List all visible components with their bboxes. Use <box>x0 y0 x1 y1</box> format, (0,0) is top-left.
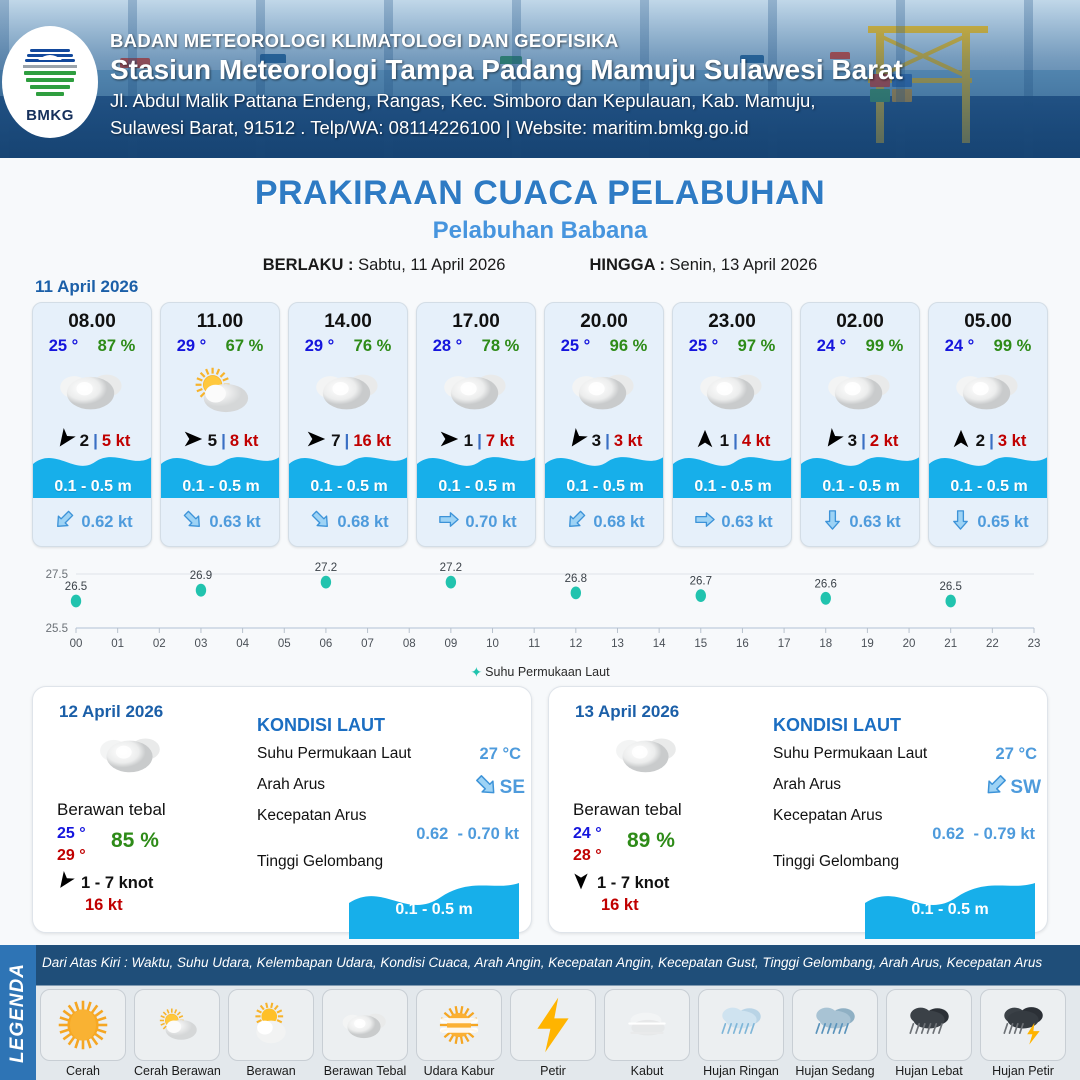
address-line-1: Jl. Abdul Malik Pattana Endeng, Rangas, … <box>110 89 903 113</box>
current-direction-icon <box>473 772 499 803</box>
legend-item: Kabut <box>604 989 690 1078</box>
daily-summary-row: 12 April 2026 Berawan tebal 25 ° 29 ° 85… <box>32 686 1048 933</box>
sst-label: Suhu Permukaan Laut <box>257 745 411 762</box>
svg-text:22: 22 <box>986 638 999 650</box>
sst-chart-plot: 27.525.500010203040506070809101112131415… <box>24 556 1056 661</box>
cloud-sun-small-icon <box>228 989 314 1061</box>
header-text-block: BADAN METEOROLOGI KLIMATOLOGI DAN GEOFIS… <box>110 30 903 139</box>
sst-label: Suhu Permukaan Laut <box>773 745 927 762</box>
wave-height-row: Tinggi Gelombang <box>257 853 525 875</box>
card-temp-humidity: 25 ° 97 % <box>673 337 791 356</box>
legend-item: Hujan Lebat <box>886 989 972 1078</box>
svg-text:27.2: 27.2 <box>440 562 462 574</box>
cloudy-icon <box>929 360 1047 422</box>
valid-to: HINGGA : Senin, 13 April 2026 <box>589 256 817 275</box>
wave-height: 0.1 - 0.5 m <box>673 478 792 496</box>
current-direction-icon <box>53 508 76 536</box>
card-humidity: 97 % <box>738 337 776 356</box>
summary-temp-max: 28 ° <box>573 845 602 867</box>
current-direction-text: SE <box>500 777 525 799</box>
bmkg-logo: BMKG <box>2 26 98 138</box>
valid-from-label: BERLAKU : <box>263 256 354 274</box>
legend-note: Dari Atas Kiri : Waktu, Suhu Udara, Kele… <box>42 955 1042 970</box>
bmkg-logo-icon <box>18 40 82 106</box>
legend-item-label: Cerah <box>40 1064 126 1078</box>
sst-value: 27 °C <box>480 745 521 764</box>
svg-text:17: 17 <box>778 638 791 650</box>
card-humidity: 99 % <box>994 337 1032 356</box>
cloudy-icon <box>545 360 663 422</box>
card-humidity: 87 % <box>98 337 136 356</box>
summary-condition: Berawan tebal <box>57 800 166 820</box>
svg-text:18: 18 <box>819 638 832 650</box>
current-direction-icon <box>949 508 972 536</box>
agency-name: BADAN METEOROLOGI KLIMATOLOGI DAN GEOFIS… <box>110 30 903 52</box>
current-speed-label: Kecepatan Arus <box>773 807 882 824</box>
summary-temperatures: 25 ° 29 ° <box>57 823 86 866</box>
current-direction-icon <box>983 772 1009 803</box>
valid-to-label: HINGGA : <box>589 256 664 274</box>
forecast-card: 20.00 25 ° 96 % 3 | 3 kt 0.1 - 0.5 m <box>544 302 664 547</box>
wave-height: 0.1 - 0.5 m <box>417 478 536 496</box>
hourly-forecast-row: 08.00 25 ° 87 % 2 | 5 kt 0.1 - 0.5 m <box>32 302 1048 547</box>
card-time: 20.00 <box>545 311 663 333</box>
cloudy-icon <box>95 732 167 782</box>
svg-text:04: 04 <box>236 638 249 650</box>
legend-item-label: Hujan Petir <box>980 1064 1066 1078</box>
card-humidity: 96 % <box>610 337 648 356</box>
current-direction-row: Arah Arus SW <box>773 776 1041 798</box>
page-header: BMKG BADAN METEOROLOGI KLIMATOLOGI DAN G… <box>0 0 1080 158</box>
current-direction-label: Arah Arus <box>773 776 841 793</box>
legend-item: Petir <box>510 989 596 1078</box>
cloudy-icon <box>673 360 791 422</box>
cloudy-icon <box>33 360 151 422</box>
forecast-card: 23.00 25 ° 97 % 1 | 4 kt 0.1 - 0.5 m <box>672 302 792 547</box>
card-temperature: 29 ° <box>305 337 335 356</box>
summary-temp-min: 24 ° <box>573 823 602 845</box>
card-time: 02.00 <box>801 311 919 333</box>
legend-item: Berawan Tebal <box>322 989 408 1078</box>
card-current: 0.68 kt <box>545 508 664 536</box>
daily-summary-card: 13 April 2026 Berawan tebal 24 ° 28 ° 89… <box>548 686 1048 933</box>
summary-humidity: 89 % <box>627 829 675 853</box>
haze-icon <box>416 989 502 1061</box>
sst-chart: 27.525.500010203040506070809101112131415… <box>24 556 1056 681</box>
svg-text:03: 03 <box>195 638 208 650</box>
sea-conditions-title: KONDISI LAUT <box>773 715 1041 736</box>
current-speed: 0.65 kt <box>977 513 1028 532</box>
svg-text:27.5: 27.5 <box>46 569 68 581</box>
forecast-card: 08.00 25 ° 87 % 2 | 5 kt 0.1 - 0.5 m <box>32 302 152 547</box>
current-speed-value: 0.62 - 0.79 kt <box>773 825 1041 844</box>
forecast-card: 17.00 28 ° 78 % 1 | 7 kt 0.1 - 0.5 m <box>416 302 536 547</box>
legend-item-label: Berawan Tebal <box>322 1064 408 1078</box>
current-speed-value: 0.62 - 0.70 kt <box>257 825 525 844</box>
summary-date: 12 April 2026 <box>59 702 163 722</box>
forecast-card: 05.00 24 ° 99 % 2 | 3 kt 0.1 - 0.5 m <box>928 302 1048 547</box>
legend-item-label: Cerah Berawan <box>134 1064 220 1078</box>
title-section: PRAKIRAAN CUACA PELABUHAN Pelabuhan Baba… <box>0 158 1080 275</box>
card-time: 11.00 <box>161 311 279 333</box>
current-speed-label: Kecepatan Arus <box>257 807 366 824</box>
legend-section: Dari Atas Kiri : Waktu, Suhu Udara, Kele… <box>0 945 1080 1080</box>
wave-height-label: Tinggi Gelombang <box>257 853 383 870</box>
summary-temp-max: 29 ° <box>57 845 86 867</box>
wave-height: 0.1 - 0.5 m <box>801 478 920 496</box>
svg-text:06: 06 <box>320 638 333 650</box>
svg-text:26.6: 26.6 <box>815 578 837 590</box>
card-temp-humidity: 25 ° 87 % <box>33 337 151 356</box>
svg-text:16: 16 <box>736 638 749 650</box>
chart-legend: ✦Suhu Permukaan Laut <box>24 664 1056 681</box>
wave-height: 0.1 - 0.5 m <box>289 478 408 496</box>
legend-item-label: Kabut <box>604 1064 690 1078</box>
card-temp-humidity: 29 ° 76 % <box>289 337 407 356</box>
svg-text:21: 21 <box>944 638 957 650</box>
moderate-rain-icon <box>792 989 878 1061</box>
card-temp-humidity: 24 ° 99 % <box>929 337 1047 356</box>
svg-text:26.9: 26.9 <box>190 570 212 582</box>
cloudy-icon <box>322 989 408 1061</box>
current-speed: 0.70 kt <box>465 513 516 532</box>
current-speed-max: - 0.79 kt <box>974 825 1035 843</box>
current-direction-icon <box>821 508 844 536</box>
svg-text:05: 05 <box>278 638 291 650</box>
card-temperature: 25 ° <box>689 337 719 356</box>
wave-height-label: Tinggi Gelombang <box>773 853 899 870</box>
legend-item: Berawan <box>228 989 314 1078</box>
svg-text:13: 13 <box>611 638 624 650</box>
sea-conditions: KONDISI LAUT Suhu Permukaan Laut 27 °C A… <box>257 715 525 875</box>
card-current: 0.68 kt <box>289 508 408 536</box>
svg-text:02: 02 <box>153 638 166 650</box>
card-current: 0.65 kt <box>929 508 1048 536</box>
card-temperature: 29 ° <box>177 337 207 356</box>
current-speed-min: 0.62 <box>932 825 964 843</box>
summary-wind: 1 - 7 knot <box>571 871 669 896</box>
svg-text:25.5: 25.5 <box>46 623 68 635</box>
legend-item: Hujan Petir <box>980 989 1066 1078</box>
card-humidity: 67 % <box>226 337 264 356</box>
current-direction-icon <box>565 508 588 536</box>
current-direction-label: Arah Arus <box>257 776 325 793</box>
summary-humidity: 85 % <box>111 829 159 853</box>
svg-text:09: 09 <box>444 638 457 650</box>
card-current: 0.62 kt <box>33 508 152 536</box>
current-direction-value: SW <box>983 772 1041 803</box>
card-time: 17.00 <box>417 311 535 333</box>
card-temp-humidity: 25 ° 96 % <box>545 337 663 356</box>
current-speed: 0.68 kt <box>337 513 388 532</box>
station-name: Stasiun Meteorologi Tampa Padang Mamuju … <box>110 54 903 86</box>
current-speed-row: Kecepatan Arus <box>773 807 1041 823</box>
wave-height-row: Tinggi Gelombang <box>773 853 1041 875</box>
valid-from: BERLAKU : Sabtu, 11 April 2026 <box>263 256 506 275</box>
port-name: Pelabuhan Babana <box>0 217 1080 245</box>
summary-gust: 16 kt <box>601 896 639 915</box>
legend-item: Cerah Berawan <box>134 989 220 1078</box>
card-humidity: 78 % <box>482 337 520 356</box>
svg-text:00: 00 <box>70 638 83 650</box>
daily-summary-card: 12 April 2026 Berawan tebal 25 ° 29 ° 85… <box>32 686 532 933</box>
current-speed: 0.63 kt <box>721 513 772 532</box>
card-current: 0.63 kt <box>801 508 920 536</box>
svg-text:14: 14 <box>653 638 666 650</box>
sun-icon <box>40 989 126 1061</box>
thunderstorm-icon <box>980 989 1066 1061</box>
current-direction-icon <box>181 508 204 536</box>
legend-item-label: Hujan Ringan <box>698 1064 784 1078</box>
svg-text:10: 10 <box>486 638 499 650</box>
cloudy-icon <box>289 360 407 422</box>
current-direction-row: Arah Arus SE <box>257 776 525 798</box>
svg-text:23: 23 <box>1028 638 1041 650</box>
forecast-card: 14.00 29 ° 76 % 7 | 16 kt 0.1 - 0.5 m <box>288 302 408 547</box>
svg-text:01: 01 <box>111 638 124 650</box>
cloudy-icon <box>801 360 919 422</box>
current-speed-row: Kecepatan Arus <box>257 807 525 823</box>
legend-item-label: Berawan <box>228 1064 314 1078</box>
svg-text:11: 11 <box>528 638 540 650</box>
svg-text:27.2: 27.2 <box>315 562 337 574</box>
legend-item: Hujan Sedang <box>792 989 878 1078</box>
card-humidity: 76 % <box>354 337 392 356</box>
card-current: 0.70 kt <box>417 508 536 536</box>
card-temperature: 25 ° <box>49 337 79 356</box>
forecast-day-label: 11 April 2026 <box>35 277 138 297</box>
validity-row: BERLAKU : Sabtu, 11 April 2026 HINGGA : … <box>0 256 1080 275</box>
sst-row: Suhu Permukaan Laut 27 °C <box>773 745 1041 767</box>
summary-temperatures: 24 ° 28 ° <box>573 823 602 866</box>
svg-text:26.8: 26.8 <box>565 573 587 585</box>
svg-text:07: 07 <box>361 638 374 650</box>
cloudy-icon <box>417 360 535 422</box>
card-time: 05.00 <box>929 311 1047 333</box>
card-temp-humidity: 28 ° 78 % <box>417 337 535 356</box>
fog-icon <box>604 989 690 1061</box>
chart-legend-marker-icon: ✦ <box>470 664 482 681</box>
svg-text:26.7: 26.7 <box>690 576 712 588</box>
current-speed: 0.62 kt <box>81 513 132 532</box>
card-temp-humidity: 29 ° 67 % <box>161 337 279 356</box>
legend-item: Cerah <box>40 989 126 1078</box>
card-humidity: 99 % <box>866 337 904 356</box>
card-temperature: 24 ° <box>817 337 847 356</box>
summary-wind-range: 1 - 7 knot <box>597 874 669 893</box>
legend-side-label: LEGENDA <box>0 945 36 1080</box>
forecast-card: 02.00 24 ° 99 % 3 | 2 kt 0.1 - 0.5 m <box>800 302 920 547</box>
svg-text:19: 19 <box>861 638 874 650</box>
summary-condition: Berawan tebal <box>573 800 682 820</box>
card-time: 14.00 <box>289 311 407 333</box>
summary-wind-range: 1 - 7 knot <box>81 874 153 893</box>
card-temperature: 24 ° <box>945 337 975 356</box>
svg-text:26.5: 26.5 <box>65 581 87 593</box>
current-speed: 0.63 kt <box>209 513 260 532</box>
summary-temp-min: 25 ° <box>57 823 86 845</box>
svg-text:20: 20 <box>903 638 916 650</box>
wave-height: 0.1 - 0.5 m <box>545 478 664 496</box>
legend-item-label: Udara Kabur <box>416 1064 502 1078</box>
legend-item: Udara Kabur <box>416 989 502 1078</box>
cloudy-icon <box>611 732 683 782</box>
forecast-card: 11.00 29 ° 67 % 5 | 8 kt 0.1 - 0.5 m <box>160 302 280 547</box>
legend-items: Cerah Cerah Berawan Berawan Berawan Teba… <box>40 989 1066 1078</box>
valid-to-value: Senin, 13 April 2026 <box>670 256 818 274</box>
light-rain-icon <box>698 989 784 1061</box>
current-speed: 0.63 kt <box>849 513 900 532</box>
current-direction-icon <box>693 508 716 536</box>
page-title: PRAKIRAAN CUACA PELABUHAN <box>0 174 1080 213</box>
heavy-rain-icon <box>886 989 972 1061</box>
summary-date: 13 April 2026 <box>575 702 679 722</box>
current-direction-icon <box>437 508 460 536</box>
current-speed: 0.68 kt <box>593 513 644 532</box>
current-direction-value: SE <box>473 772 525 803</box>
legend-item-label: Hujan Sedang <box>792 1064 878 1078</box>
wave-height: 0.1 - 0.5 m <box>929 478 1048 496</box>
card-current: 0.63 kt <box>673 508 792 536</box>
wind-direction-icon <box>55 871 75 896</box>
summary-wind: 1 - 7 knot <box>55 871 153 896</box>
card-temperature: 25 ° <box>561 337 591 356</box>
svg-text:12: 12 <box>569 638 582 650</box>
current-speed-max: - 0.70 kt <box>458 825 519 843</box>
wind-direction-icon <box>571 871 591 896</box>
chart-legend-label: Suhu Permukaan Laut <box>485 665 609 679</box>
sst-value: 27 °C <box>996 745 1037 764</box>
summary-gust: 16 kt <box>85 896 123 915</box>
wave-height: 0.1 - 0.5 m <box>33 478 152 496</box>
svg-text:26.5: 26.5 <box>940 581 962 593</box>
valid-from-value: Sabtu, 11 April 2026 <box>358 256 505 274</box>
current-direction-text: SW <box>1010 777 1041 799</box>
legend-item-label: Hujan Lebat <box>886 1064 972 1078</box>
svg-text:15: 15 <box>694 638 707 650</box>
sst-row: Suhu Permukaan Laut 27 °C <box>257 745 525 767</box>
card-temp-humidity: 24 ° 99 % <box>801 337 919 356</box>
bmkg-logo-text: BMKG <box>26 107 74 124</box>
card-time: 08.00 <box>33 311 151 333</box>
legend-side-label-text: LEGENDA <box>7 963 29 1063</box>
wave-height: 0.1 - 0.5 m <box>161 478 280 496</box>
sun-cloud-icon <box>134 989 220 1061</box>
sun-cloud-icon <box>161 360 279 422</box>
card-current: 0.63 kt <box>161 508 280 536</box>
legend-item-label: Petir <box>510 1064 596 1078</box>
summary-wave-height: 0.1 - 0.5 m <box>349 901 519 919</box>
legend-item: Hujan Ringan <box>698 989 784 1078</box>
address-line-2: Sulawesi Barat, 91512 . Telp/WA: 0811422… <box>110 116 903 140</box>
current-direction-icon <box>309 508 332 536</box>
lightning-icon <box>510 989 596 1061</box>
sea-conditions: KONDISI LAUT Suhu Permukaan Laut 27 °C A… <box>773 715 1041 875</box>
summary-wave-height: 0.1 - 0.5 m <box>865 901 1035 919</box>
sea-conditions-title: KONDISI LAUT <box>257 715 525 736</box>
card-temperature: 28 ° <box>433 337 463 356</box>
current-speed-min: 0.62 <box>416 825 448 843</box>
svg-text:08: 08 <box>403 638 416 650</box>
card-time: 23.00 <box>673 311 791 333</box>
